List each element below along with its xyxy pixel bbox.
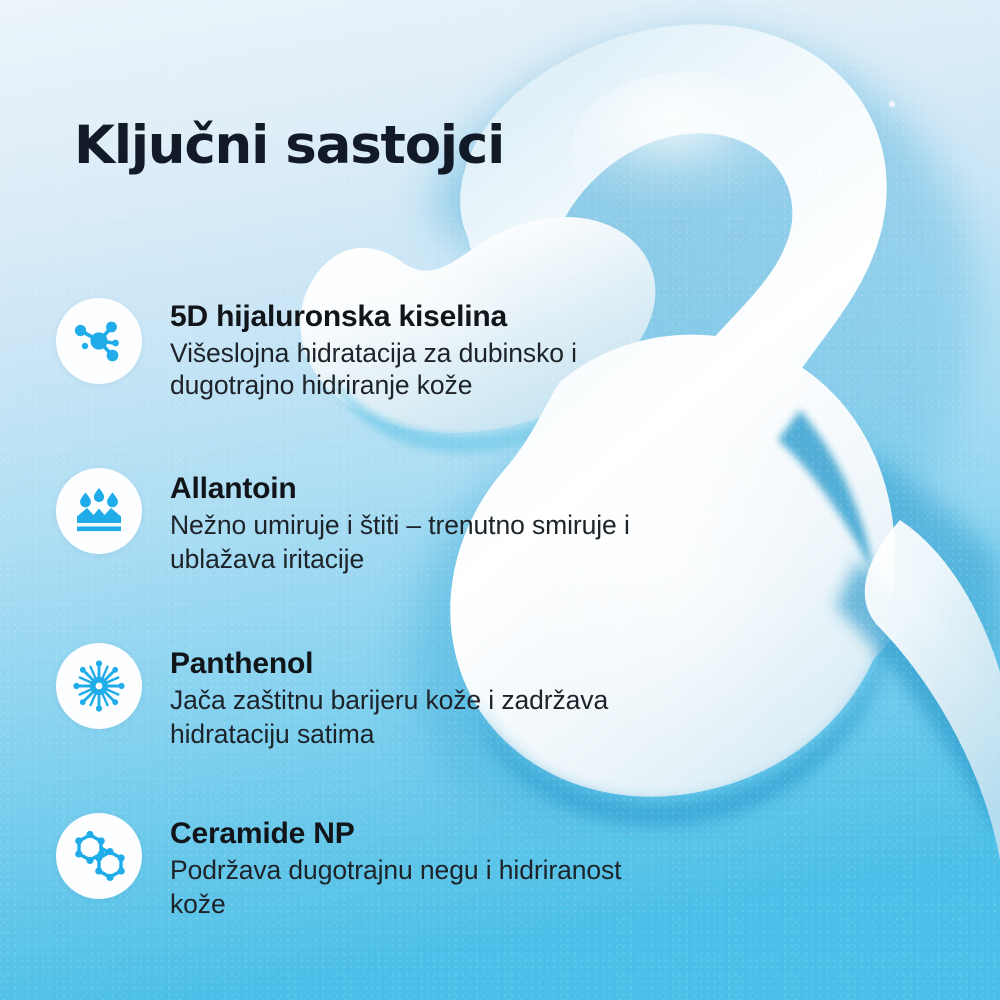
ingredient-icon-badge — [56, 643, 142, 729]
ingredient-description: Podržava dugotrajnu negu i hidriranost k… — [170, 854, 640, 922]
ingredient-text: Panthenol Jača zaštitnu barijeru kože i … — [170, 643, 640, 751]
ingredient-heading: Ceramide NP — [170, 817, 640, 851]
ingredient-description: Jača zaštitnu barijeru kože i zadržava h… — [170, 684, 640, 752]
bubble-icon — [818, 170, 822, 174]
ingredient-icon-badge — [56, 298, 142, 384]
ingredient-description: Višeslojna hidratacija za dubinsko i dug… — [170, 337, 640, 402]
page-title: Ključni sastojci — [74, 118, 504, 174]
list-item: Panthenol Jača zaštitnu barijeru kože i … — [56, 643, 640, 751]
list-item: 5D hijaluronska kiselina Višeslojna hidr… — [56, 298, 640, 401]
ingredient-description: Nežno umiruje i štiti – trenutno smiruje… — [170, 509, 640, 577]
ingredient-text: Ceramide NP Podržava dugotrajnu negu i h… — [170, 813, 640, 921]
ingredient-heading: Panthenol — [170, 647, 640, 681]
bubble-icon — [843, 134, 847, 138]
hexagon-molecule-icon — [70, 827, 128, 885]
list-item: Ceramide NP Podržava dugotrajnu negu i h… — [56, 813, 640, 921]
ingredients-infographic: Ključni sastojci — [0, 0, 1000, 1000]
ingredient-text: 5D hijaluronska kiselina Višeslojna hidr… — [170, 298, 640, 401]
molecule-network-icon — [70, 312, 128, 370]
list-item: Allantoin Nežno umiruje i štiti – trenut… — [56, 468, 640, 576]
cream-highlight-top — [570, 72, 810, 228]
ingredient-heading: Allantoin — [170, 472, 640, 506]
bubble-icon — [889, 101, 895, 107]
snowflake-burst-icon — [70, 657, 128, 715]
ingredient-icon-badge — [56, 468, 142, 554]
water-drops-wave-icon — [71, 483, 127, 539]
ingredient-heading: 5D hijaluronska kiselina — [170, 300, 640, 334]
ingredient-icon-badge — [56, 813, 142, 899]
ingredient-text: Allantoin Nežno umiruje i štiti – trenut… — [170, 468, 640, 576]
